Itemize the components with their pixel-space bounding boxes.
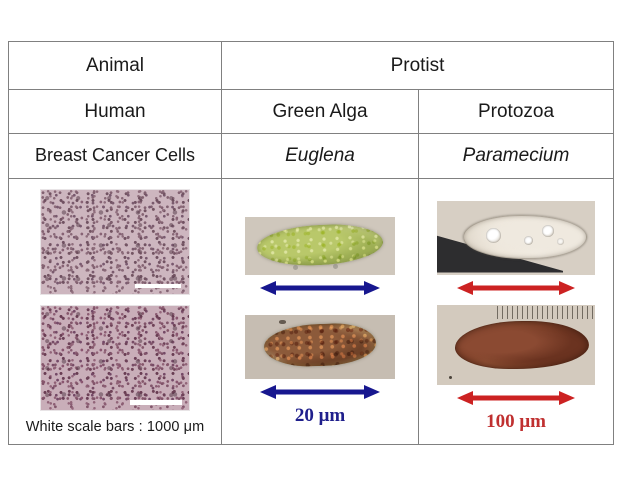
human-scale-caption: White scale bars : 1000 μm — [26, 411, 205, 444]
euglena-scale-arrow-bottom — [260, 385, 380, 399]
header-human-label: Human — [84, 101, 145, 122]
vacuole — [542, 225, 554, 237]
debris-speck — [449, 376, 452, 379]
debris-speck — [293, 265, 298, 270]
header-human: Human — [9, 90, 222, 134]
debris-speck — [279, 320, 286, 324]
double-arrow-icon — [260, 385, 380, 399]
vacuole — [557, 238, 564, 245]
vacuole — [486, 228, 501, 243]
vacuole — [524, 236, 533, 245]
protozoa-scale-arrow-top — [457, 281, 575, 295]
cell-texture-overlay — [41, 190, 189, 294]
table-row-micrographs: White scale bars : 1000 μm — [9, 179, 614, 445]
ruler-scale-icon — [497, 306, 593, 319]
green-alga-image-stack: 20 μm — [222, 197, 418, 427]
header-animal: Animal — [9, 42, 222, 90]
scale-bar-icon — [135, 284, 181, 288]
paramecium-cell-body — [455, 321, 589, 369]
cell-texture-overlay — [41, 306, 189, 410]
chloroplast-granules — [256, 221, 384, 268]
double-arrow-icon — [457, 281, 575, 295]
header-protozoa: Protozoa — [419, 90, 614, 134]
header-green-alga: Green Alga — [222, 90, 419, 134]
table-row-organism: Breast Cancer Cells Euglena Paramecium — [9, 134, 614, 179]
debris-speck — [333, 264, 338, 269]
scale-bar-icon — [130, 400, 182, 405]
euglena-cell-body — [263, 322, 376, 368]
double-arrow-icon — [457, 391, 575, 405]
euglena-green-micrograph — [245, 217, 395, 275]
header-protozoa-label: Protozoa — [478, 101, 554, 122]
cell-human-micrographs: White scale bars : 1000 μm — [9, 179, 222, 445]
protozoa-scale-label: 100 μm — [486, 411, 546, 433]
paramecium-cell-body — [463, 215, 587, 259]
green-alga-scale-label: 20 μm — [295, 405, 345, 427]
euglena-cell-body — [256, 221, 384, 268]
table-row-group: Human Green Alga Protozoa — [9, 90, 614, 134]
header-green-alga-label: Green Alga — [272, 101, 367, 122]
comparison-table: Animal Protist Human Green Alga Protozoa — [8, 41, 614, 445]
header-animal-label: Animal — [86, 55, 144, 76]
paramecium-pale-with-needle-micrograph — [437, 201, 595, 275]
paramecium-dark-with-ruler-micrograph — [437, 305, 595, 385]
header-paramecium: Paramecium — [419, 134, 614, 179]
euglena-scale-arrow-top — [260, 281, 380, 295]
protozoa-image-stack: 100 μm — [419, 191, 613, 433]
human-image-stack: White scale bars : 1000 μm — [9, 179, 221, 444]
header-euglena-label: Euglena — [285, 145, 355, 166]
header-protist-label: Protist — [391, 55, 445, 76]
header-paramecium-label: Paramecium — [463, 145, 570, 166]
header-breast-cancer-cells: Breast Cancer Cells — [9, 134, 222, 179]
cell-granules — [263, 322, 376, 368]
header-protist: Protist — [222, 42, 614, 90]
euglena-brown-micrograph — [245, 315, 395, 379]
header-breast-cancer-cells-label: Breast Cancer Cells — [35, 145, 195, 165]
breast-cancer-cells-micrograph-top — [40, 189, 190, 295]
breast-cancer-cells-micrograph-bottom — [40, 305, 190, 411]
cell-protozoa-micrographs: 100 μm — [419, 179, 614, 445]
cell-green-alga-micrographs: 20 μm — [222, 179, 419, 445]
header-euglena: Euglena — [222, 134, 419, 179]
protozoa-scale-arrow-bottom — [457, 391, 575, 405]
figure-sheet: Animal Protist Human Green Alga Protozoa — [0, 0, 620, 480]
table-row-kingdom: Animal Protist — [9, 42, 614, 90]
double-arrow-icon — [260, 281, 380, 295]
